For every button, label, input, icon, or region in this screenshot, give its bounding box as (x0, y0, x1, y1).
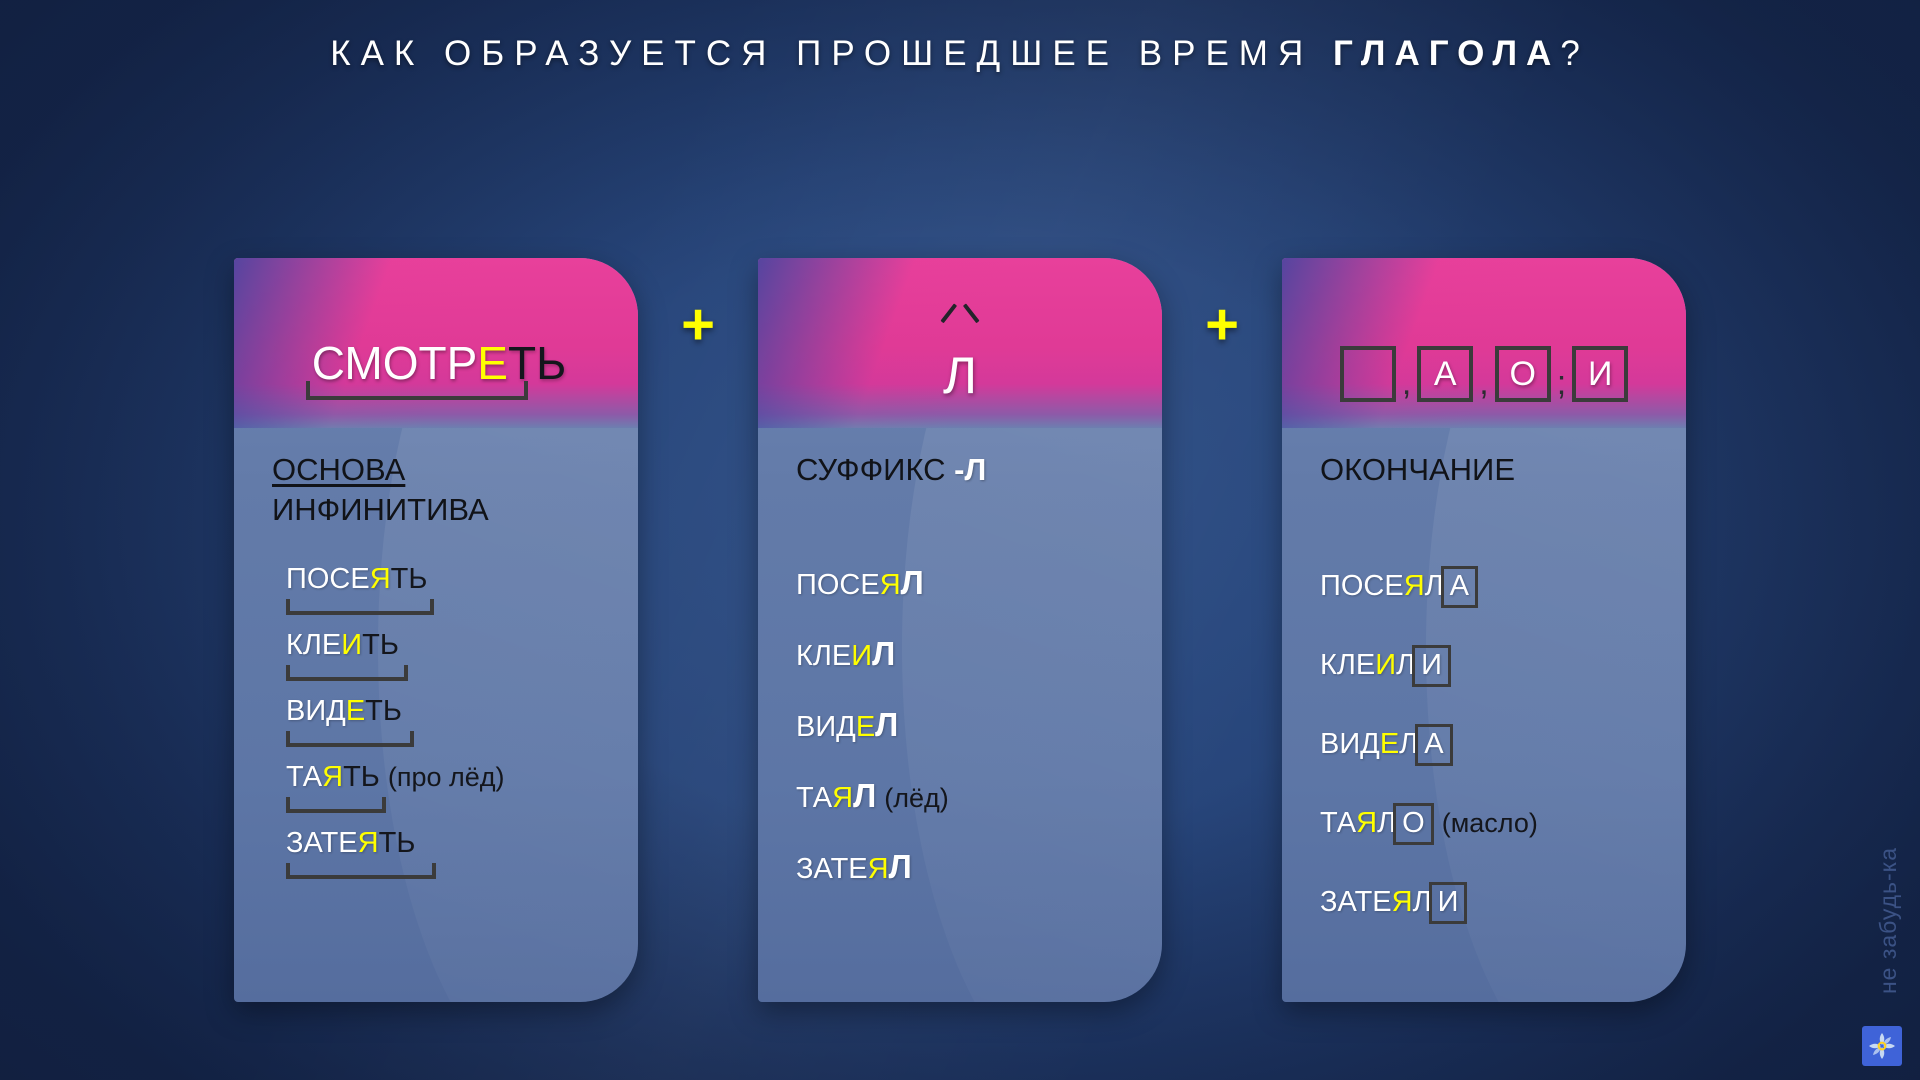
item-suffix: Л (889, 848, 912, 885)
ending-separator: ; (1551, 365, 1572, 402)
item-stem: ВИД (1320, 728, 1380, 760)
card-body-suffiks: СУФФИКС -Л ПОСЕЯЛ КЛЕИЛ ВИДЕЛ ТАЯЛ (лёд)… (758, 428, 1162, 884)
plus-separator-1: + (638, 296, 758, 354)
list-item: ПОСЕЯЛА (1320, 566, 1686, 608)
item-vowel: Я (1404, 570, 1425, 602)
item-vowel: Я (358, 827, 379, 859)
ending-box-o: О (1495, 346, 1551, 402)
item-vowel: Я (370, 563, 391, 595)
word-list-osnova: ПОСЕЯТЬ КЛЕИТЬ ВИДЕТЬ ТАЯТЬ (про лёд) ЗА (272, 565, 638, 858)
stem-bracket-icon (286, 599, 434, 615)
item-vowel: Я (1356, 807, 1377, 839)
item-tail: ТЬ (343, 761, 380, 793)
card-label-suffix: -Л (954, 452, 986, 487)
item-vowel: Я (322, 761, 343, 793)
item-tail: ТЬ (365, 695, 402, 727)
item-stem: ВИД (286, 695, 346, 727)
item-stem: КЛЕ (286, 629, 341, 661)
item-vowel: Я (880, 569, 901, 601)
item-ending-box: И (1412, 645, 1451, 687)
ending-box-empty (1340, 346, 1396, 402)
item-stem: ТА (286, 761, 322, 793)
item-stem: ВИД (796, 711, 856, 743)
card-suffiks-l: Л СУФФИКС -Л ПОСЕЯЛ КЛЕИЛ ВИДЕЛ Т (758, 258, 1162, 1002)
watermark-text: не забудь-ка (1875, 847, 1902, 994)
header-word-smotret: СМОТРЕТЬ (306, 340, 567, 402)
item-vowel: И (1375, 649, 1396, 681)
word-list-okonchanie: ПОСЕЯЛА КЛЕИЛИ ВИДЕЛА ТАЯЛО (масло) ЗАТЕ… (1320, 566, 1686, 924)
item-stem: ТА (1320, 807, 1356, 839)
list-item: КЛЕИЛИ (1320, 645, 1686, 687)
item-vowel: И (851, 640, 872, 672)
item-note: (про лёд) (388, 762, 505, 792)
list-item: КЛЕИТЬ (272, 631, 638, 660)
card-header-okonchanie: , А , О ; И (1282, 258, 1686, 428)
ending-box-a: А (1417, 346, 1473, 402)
list-item: ТАЯЛО (масло) (1320, 803, 1686, 845)
item-note: (лёд) (884, 783, 949, 813)
pinwheel-logo-icon (1862, 1026, 1902, 1066)
card-label-line1: ОКОНЧАНИЕ (1320, 452, 1515, 487)
card-label-line1: ОСНОВА (272, 452, 405, 487)
list-item: ТАЯЛ (лёд) (796, 779, 1162, 813)
card-header-suffiks: Л (758, 258, 1162, 428)
list-item: ВИДЕТЬ (272, 697, 638, 726)
header-endings-group: , А , О ; И (1340, 346, 1628, 402)
list-item: ЗАТЕЯЛ (796, 850, 1162, 884)
stem-bracket-icon (286, 665, 408, 681)
item-tail: ТЬ (379, 827, 416, 859)
card-label-line2: ИНФИНИТИВА (272, 492, 489, 527)
item-suffix: Л (875, 706, 898, 743)
list-item: ТАЯТЬ (про лёд) (272, 763, 638, 792)
item-stem: ПОСЕ (286, 563, 370, 595)
card-label-line1: СУФФИКС (796, 452, 946, 487)
item-tail: ТЬ (391, 563, 428, 595)
item-suffix: Л (853, 777, 876, 814)
item-vowel: Е (346, 695, 365, 727)
item-stem: ЗАТЕ (1320, 886, 1392, 918)
card-label-suffiks: СУФФИКС -Л (796, 450, 1162, 490)
formula-row: СМОТРЕТЬ ОСНОВА ИНФИНИТИВА ПОСЕЯТЬ КЛЕИТ… (0, 258, 1920, 1018)
stem-bracket-icon (286, 797, 386, 813)
card-body-okonchanie: ОКОНЧАНИЕ ПОСЕЯЛА КЛЕИЛИ ВИДЕЛА ТАЯЛО (м… (1282, 428, 1686, 924)
ending-separator: , (1473, 365, 1494, 402)
item-vowel: Е (1380, 728, 1399, 760)
item-vowel: И (341, 629, 362, 661)
stem-bracket-icon (306, 381, 528, 400)
item-ending-box: О (1393, 803, 1434, 845)
list-item: ЗАТЕЯТЬ (272, 829, 638, 858)
caret-suffix-icon (943, 320, 977, 342)
item-vowel: Е (856, 711, 875, 743)
item-suffix: Л (901, 564, 924, 601)
list-item: ПОСЕЯТЬ (272, 565, 638, 594)
ending-box-i: И (1572, 346, 1628, 402)
item-stem: КЛЕ (796, 640, 851, 672)
item-tail: ТЬ (362, 629, 399, 661)
plus-separator-2: + (1162, 296, 1282, 354)
card-label-okonchanie: ОКОНЧАНИЕ (1320, 450, 1686, 490)
header-suffix-letter: Л (943, 347, 977, 405)
item-ending-box: И (1429, 882, 1468, 924)
card-okonchanie: , А , О ; И ОКОНЧАНИЕ ПОСЕЯЛА КЛЕИЛИ (1282, 258, 1686, 1002)
card-label-osnova: ОСНОВА ИНФИНИТИВА (272, 450, 638, 529)
item-vowel: Я (868, 853, 889, 885)
page-title-highlight: ГЛАГОЛА (1333, 34, 1560, 73)
item-ending-box: А (1415, 724, 1452, 766)
ending-separator: , (1396, 365, 1417, 402)
item-stem: КЛЕ (1320, 649, 1375, 681)
page-title-plain: КАК ОБРАЗУЕТСЯ ПРОШЕДШЕЕ ВРЕМЯ (330, 34, 1333, 73)
item-stem: ПОСЕ (1320, 570, 1404, 602)
word-list-suffiks: ПОСЕЯЛ КЛЕИЛ ВИДЕЛ ТАЯЛ (лёд) ЗАТЕЯЛ (796, 566, 1162, 884)
list-item: КЛЕИЛ (796, 637, 1162, 671)
item-stem: ПОСЕ (796, 569, 880, 601)
item-stem: ТА (796, 782, 832, 814)
list-item: ВИДЕЛА (1320, 724, 1686, 766)
list-item: ЗАТЕЯЛИ (1320, 882, 1686, 924)
item-stem: ЗАТЕ (286, 827, 358, 859)
item-vowel: Я (1392, 886, 1413, 918)
stem-bracket-icon (286, 863, 436, 879)
item-suffix: Л (872, 635, 895, 672)
card-body-osnova: ОСНОВА ИНФИНИТИВА ПОСЕЯТЬ КЛЕИТЬ ВИДЕТЬ (234, 428, 638, 858)
page-title-suffix: ? (1560, 34, 1589, 73)
item-note: (масло) (1442, 808, 1538, 838)
item-vowel: Я (832, 782, 853, 814)
item-ending-box: А (1441, 566, 1478, 608)
item-stem: ЗАТЕ (796, 853, 868, 885)
page-title: КАК ОБРАЗУЕТСЯ ПРОШЕДШЕЕ ВРЕМЯ ГЛАГОЛА? (0, 34, 1920, 74)
list-item: ВИДЕЛ (796, 708, 1162, 742)
list-item: ПОСЕЯЛ (796, 566, 1162, 600)
header-suffix-l: Л (943, 334, 977, 402)
stem-bracket-icon (286, 731, 414, 747)
card-osnova-infinitiva: СМОТРЕТЬ ОСНОВА ИНФИНИТИВА ПОСЕЯТЬ КЛЕИТ… (234, 258, 638, 1002)
card-header-osnova: СМОТРЕТЬ (234, 258, 638, 428)
